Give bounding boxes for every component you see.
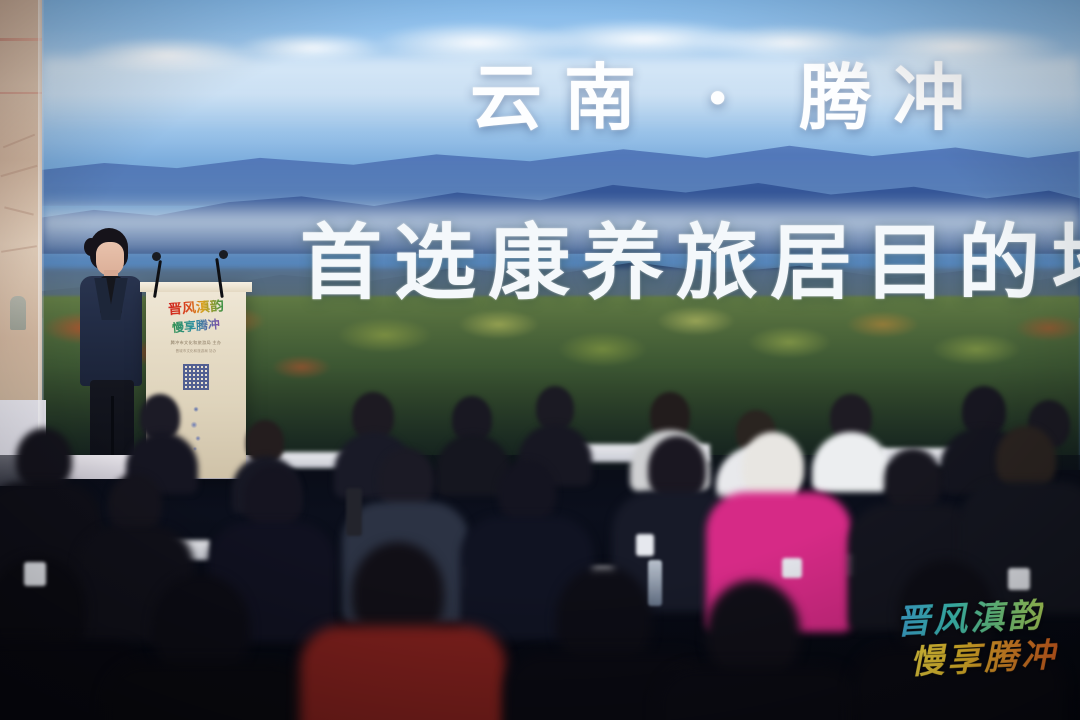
audience-head [884,448,942,512]
audience-head-hat [742,432,804,500]
audience-head [244,466,302,530]
watermark-line1: 晋风滇韵 [895,598,1045,640]
conference-photo: 云南 · 腾冲 首选康养旅居目的地 晋风滇韵 慢享腾冲 腾冲市文化和旅游局 主办… [0,0,1080,720]
audience-body-red [300,626,506,720]
watermark-line2: 慢享腾冲 [895,638,1059,680]
podium-calligraphy-line1: 晋风滇韵 [168,299,225,317]
microphone-left [150,252,164,298]
audience-head [378,448,434,510]
audience-head [498,460,556,524]
audience-head [108,474,162,534]
audience-body [104,662,312,720]
microphone-right [212,250,226,298]
podium-organizer-line1: 腾冲市文化和旅游局 主办 [171,340,222,346]
audience-head [16,428,72,490]
screen-headline-secondary: 首选康养旅居目的地 [300,222,1080,304]
podium-organizer-line2: 晋城市文化和旅游局 协办 [176,348,217,353]
screen-headline-primary: 云南 · 腾冲 [470,62,987,134]
audience-body [656,666,862,720]
audience-body [812,432,890,492]
podium-calligraphy-line2: 慢享腾冲 [172,318,221,334]
event-watermark: 晋风滇韵 慢享腾冲 [896,602,1044,676]
mural-figure-icon [10,296,26,330]
